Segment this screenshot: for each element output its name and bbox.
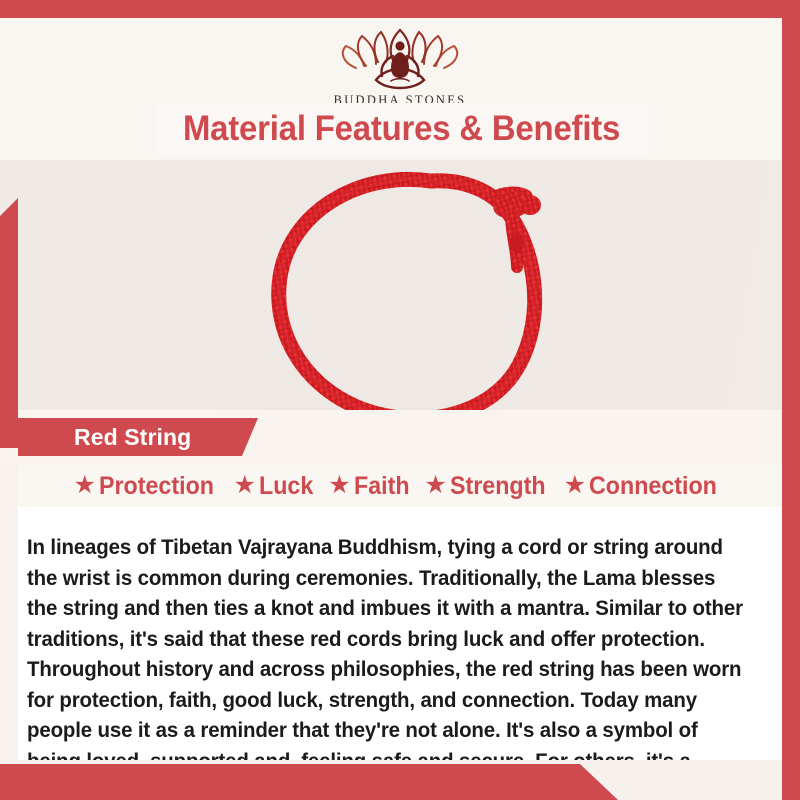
top-border-band bbox=[0, 0, 800, 18]
page-title: Material Features & Benefits bbox=[183, 109, 620, 149]
star-icon: ★ bbox=[564, 473, 586, 498]
star-icon: ★ bbox=[424, 473, 446, 498]
description-panel: In lineages of Tibetan Vajrayana Buddhis… bbox=[18, 507, 782, 764]
benefit-label: Strength bbox=[450, 472, 546, 501]
star-icon: ★ bbox=[234, 473, 256, 498]
benefit-item: ★ Connection bbox=[564, 472, 727, 501]
benefit-label: Faith bbox=[354, 472, 410, 501]
title-plate: Material Features & Benefits bbox=[155, 103, 648, 155]
benefit-item: ★ Strength bbox=[424, 472, 552, 501]
logo-lockup: BUDDHA STONES bbox=[0, 18, 800, 108]
lotus-meditation-figure-icon bbox=[336, 24, 464, 90]
benefit-item: ★ Faith bbox=[328, 472, 413, 501]
bottom-accent-band bbox=[0, 764, 618, 800]
benefit-label: Luck bbox=[259, 472, 313, 501]
benefit-label: Protection bbox=[99, 472, 214, 501]
benefit-label: Connection bbox=[589, 472, 717, 501]
product-label-banner: Red String bbox=[18, 418, 258, 456]
right-border-band bbox=[782, 0, 800, 800]
star-icon: ★ bbox=[328, 473, 350, 498]
infographic-page: BUDDHA STONES Material Features & Benefi… bbox=[0, 0, 800, 800]
benefit-item: ★ Luck bbox=[234, 472, 318, 501]
left-accent-tab bbox=[0, 198, 18, 448]
red-braided-string-bracelet-image bbox=[245, 160, 575, 410]
benefits-row: ★ Protection ★ Luck ★ Faith ★ Strength ★… bbox=[18, 465, 782, 507]
product-label: Red String bbox=[74, 424, 191, 451]
product-hero-area bbox=[0, 160, 800, 410]
benefit-item: ★ Protection bbox=[73, 472, 222, 501]
star-icon: ★ bbox=[73, 473, 95, 498]
